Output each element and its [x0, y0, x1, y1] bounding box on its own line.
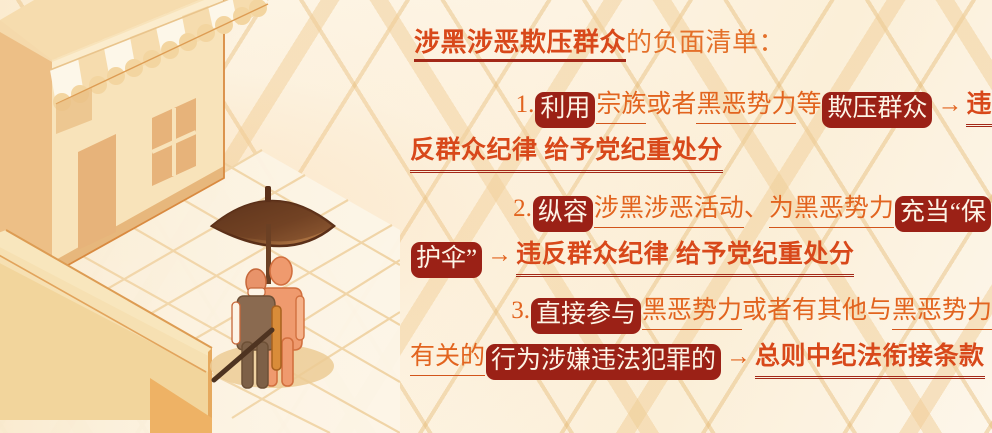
emphasis-chip: 欺压群众 [822, 92, 932, 128]
emphasis-chip: 利用 [535, 92, 595, 128]
underlined-phrase: 有关的 [410, 340, 485, 376]
list-item-line: 3.直接参与黑恶势力或者有其他与黑恶势力 [404, 288, 992, 334]
title-highlight: 涉黑涉恶欺压群众 [414, 28, 626, 62]
emphasis-chip: 充当“保 [895, 196, 991, 232]
conclusion-phrase: 违反群众纪律 给予党纪重处分 [516, 238, 854, 277]
arrow-icon: → [933, 91, 966, 118]
list-item-2: 2.纵容涉黑涉恶活动、为黑恶势力充当“保护伞”→违反群众纪律 给予党纪重处分 [404, 186, 992, 278]
underlined-phrase: 黑恶势力 [892, 294, 992, 330]
shop-door [78, 134, 116, 250]
emphasis-chip: 护伞” [411, 242, 482, 278]
underlined-phrase: 黑恶势力 [696, 88, 796, 124]
poster-canvas: 涉黑涉恶欺压群众的负面清单： 1.利用宗族或者黑恶势力等欺压群众→违反群众纪律 … [0, 0, 992, 433]
baton [272, 306, 281, 370]
underlined-phrase: 涉黑涉恶活动 [594, 192, 744, 228]
negative-list-text: 涉黑涉恶欺压群众的负面清单： 1.利用宗族或者黑恶势力等欺压群众→违反群众纪律 … [404, 0, 992, 433]
conclusion-phrase: 反群众纪律 给予党纪重处分 [410, 134, 723, 173]
arrow-icon: → [483, 241, 516, 268]
conclusion-phrase: 总则中纪法衔接条款 [755, 340, 985, 379]
page-title: 涉黑涉恶欺压群众的负面清单： [414, 26, 992, 60]
list-item-line: 1.利用宗族或者黑恶势力等欺压群众→违 [404, 82, 992, 128]
list-item-line: 2.纵容涉黑涉恶活动、为黑恶势力充当“保 [404, 186, 992, 232]
emphasis-chip: 直接参与 [531, 298, 641, 334]
list-item-number: 3. [511, 297, 530, 324]
underlined-phrase: 为黑恶势力 [769, 192, 894, 228]
underlined-phrase: 宗族 [596, 88, 646, 124]
isometric-street-illustration [0, 0, 400, 433]
face-mask [248, 288, 265, 296]
arrow-icon: → [722, 343, 755, 370]
title-suffix: 的负面清单： [626, 28, 785, 57]
list-item-number: 1. [516, 91, 535, 118]
list-item-line: 反群众纪律 给予党纪重处分 [404, 128, 992, 174]
emphasis-chip: 纵容 [533, 196, 593, 232]
list-item-1: 1.利用宗族或者黑恶势力等欺压群众→违反群众纪律 给予党纪重处分 [404, 82, 992, 174]
plain-text: 等 [796, 91, 821, 118]
list-item-3: 3.直接参与黑恶势力或者有其他与黑恶势力有关的行为涉嫌违法犯罪的→总则中纪法衔接… [404, 288, 992, 380]
emphasis-chip: 行为涉嫌违法犯罪的 [486, 344, 721, 380]
plain-text: 、 [744, 195, 769, 222]
conclusion-phrase: 违 [966, 88, 992, 127]
list-item-line: 有关的行为涉嫌违法犯罪的→总则中纪法衔接条款 [404, 334, 992, 380]
plain-text: 或者有其他与 [742, 297, 892, 324]
list-item-line: 护伞”→违反群众纪律 给予党纪重处分 [404, 232, 992, 278]
plain-text: 或者 [646, 91, 696, 118]
underlined-phrase: 黑恶势力 [642, 294, 742, 330]
list-item-number: 2. [513, 195, 532, 222]
